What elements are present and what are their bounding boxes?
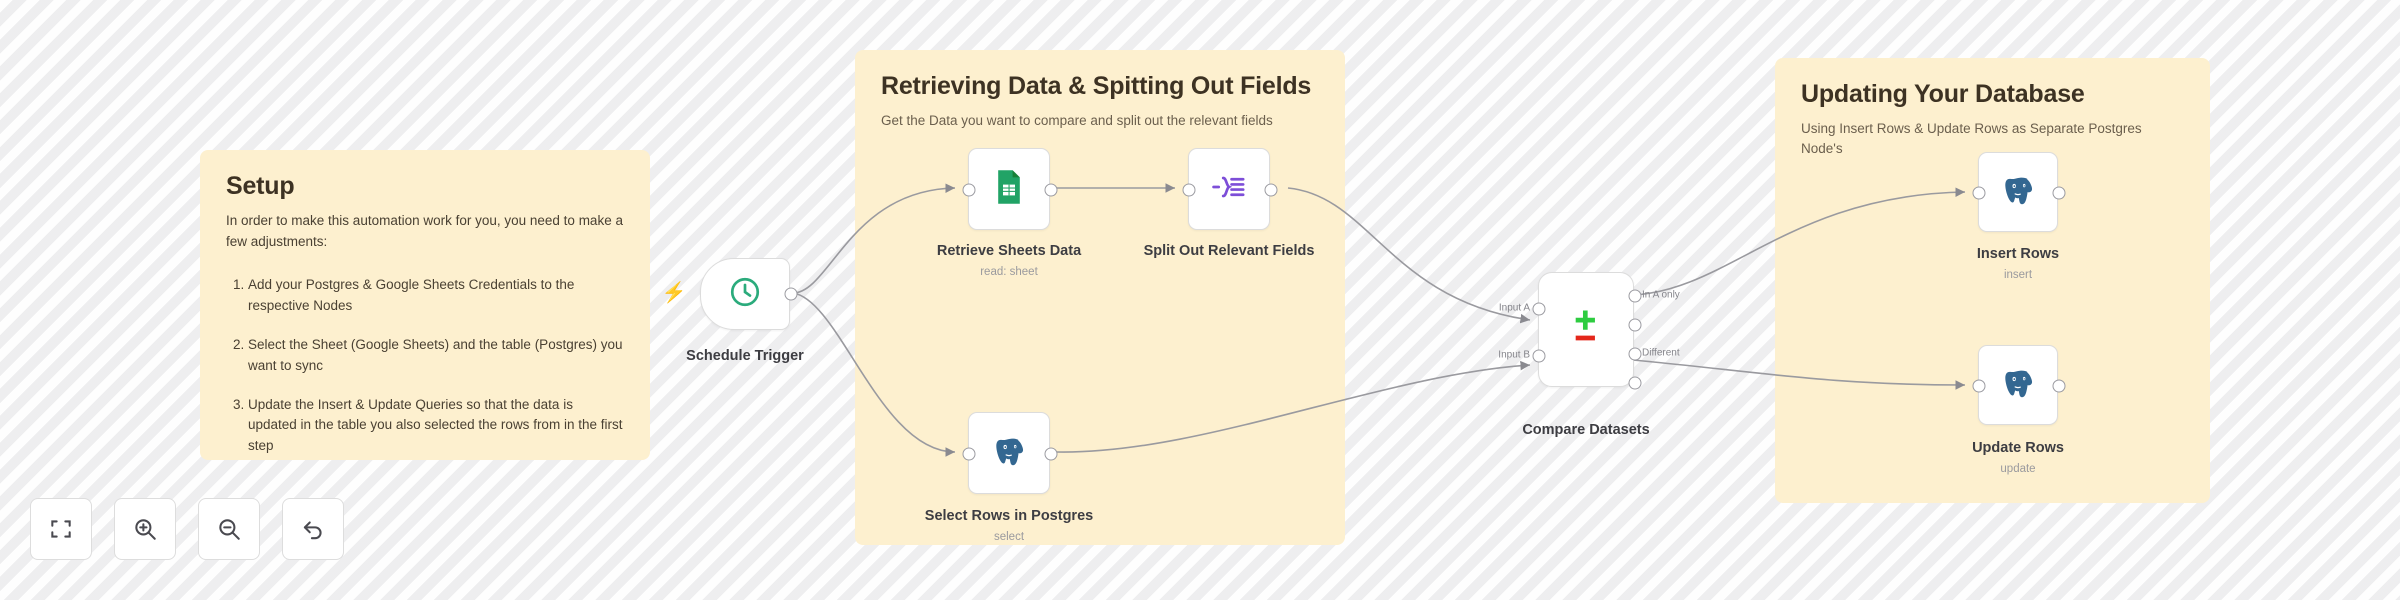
zoom-out-button[interactable] <box>198 498 260 560</box>
node-label-retrieve-sheets-data: Retrieve Sheets Data <box>937 243 1081 259</box>
input-port[interactable] <box>1973 380 1986 393</box>
input-port-a[interactable] <box>1533 303 1546 316</box>
output-port-4[interactable] <box>1629 377 1642 390</box>
sticky-title: Updating Your Database <box>1801 80 2184 109</box>
input-port[interactable] <box>1973 187 1986 200</box>
output-port[interactable] <box>2053 187 2066 200</box>
sticky-note-setup[interactable]: Setup In order to make this automation w… <box>200 150 650 460</box>
postgres-icon <box>2000 365 2036 406</box>
list-item: Update the Insert & Update Queries so th… <box>248 395 624 458</box>
input-label-a: Input A <box>1499 303 1530 314</box>
input-label-b: Input B <box>1498 350 1530 361</box>
clock-icon <box>728 275 762 314</box>
node-subtitle-select-rows-in-postgres: select <box>994 531 1024 543</box>
postgres-icon <box>991 433 1027 474</box>
canvas-toolbar[interactable] <box>30 498 344 560</box>
reset-zoom-button[interactable] <box>282 498 344 560</box>
zoom-to-fit-button[interactable] <box>30 498 92 560</box>
sticky-setup-steps: Add your Postgres & Google Sheets Creden… <box>226 275 624 457</box>
zoom-out-icon <box>216 516 242 542</box>
sticky-title: Setup <box>226 172 624 201</box>
node-label-compare-datasets: Compare Datasets <box>1522 422 1649 438</box>
output-port[interactable] <box>1265 184 1278 197</box>
node-update-rows[interactable] <box>1978 345 2058 425</box>
output-port[interactable] <box>785 288 798 301</box>
undo-arrow-icon <box>300 516 326 542</box>
output-label-in-a-only: In A only <box>1642 290 1680 301</box>
workflow-canvas[interactable]: Setup In order to make this automation w… <box>0 0 2400 600</box>
zoom-in-button[interactable] <box>114 498 176 560</box>
sticky-note-updating[interactable]: Updating Your Database Using Insert Rows… <box>1775 58 2210 503</box>
sticky-note-retrieving[interactable]: Retrieving Data & Spitting Out Fields Ge… <box>855 50 1345 545</box>
node-subtitle-update-rows: update <box>2000 463 2035 475</box>
output-port-different[interactable] <box>1629 348 1642 361</box>
output-port-2[interactable] <box>1629 319 1642 332</box>
node-insert-rows[interactable] <box>1978 152 2058 232</box>
node-retrieve-sheets-data[interactable] <box>968 148 1050 230</box>
node-compare-datasets[interactable] <box>1538 272 1634 387</box>
node-select-rows-in-postgres[interactable] <box>968 412 1050 494</box>
input-port-b[interactable] <box>1533 350 1546 363</box>
node-label-schedule-trigger: Schedule Trigger <box>686 348 804 364</box>
output-port[interactable] <box>1045 448 1058 461</box>
plus-minus-icon <box>1565 305 1607 354</box>
output-label-different: Different <box>1642 348 1680 359</box>
node-label-split-out-relevant-fields: Split Out Relevant Fields <box>1144 243 1315 259</box>
execute-bolt-icon: ⚡ <box>662 283 687 303</box>
input-port[interactable] <box>1183 184 1196 197</box>
list-item: Select the Sheet (Google Sheets) and the… <box>248 335 624 377</box>
node-label-insert-rows: Insert Rows <box>1977 246 2059 262</box>
node-subtitle-retrieve-sheets-data: read: sheet <box>980 266 1038 278</box>
node-split-out-relevant-fields[interactable] <box>1188 148 1270 230</box>
sticky-subtitle: Get the Data you want to compare and spl… <box>881 111 1319 131</box>
input-port[interactable] <box>963 184 976 197</box>
input-port[interactable] <box>963 448 976 461</box>
sticky-body: In order to make this automation work fo… <box>226 211 624 253</box>
node-label-select-rows-in-postgres: Select Rows in Postgres <box>925 508 1093 524</box>
node-label-update-rows: Update Rows <box>1972 440 2064 456</box>
output-port[interactable] <box>1045 184 1058 197</box>
node-subtitle-insert-rows: insert <box>2004 269 2032 281</box>
fit-screen-icon <box>48 516 74 542</box>
split-out-icon <box>1211 171 1247 208</box>
list-item: Add your Postgres & Google Sheets Creden… <box>248 275 624 317</box>
google-sheets-icon <box>994 169 1024 210</box>
output-port-in-a-only[interactable] <box>1629 290 1642 303</box>
node-schedule-trigger[interactable] <box>700 258 790 330</box>
postgres-icon <box>2000 172 2036 213</box>
sticky-title: Retrieving Data & Spitting Out Fields <box>881 72 1319 101</box>
zoom-in-icon <box>132 516 158 542</box>
output-port[interactable] <box>2053 380 2066 393</box>
